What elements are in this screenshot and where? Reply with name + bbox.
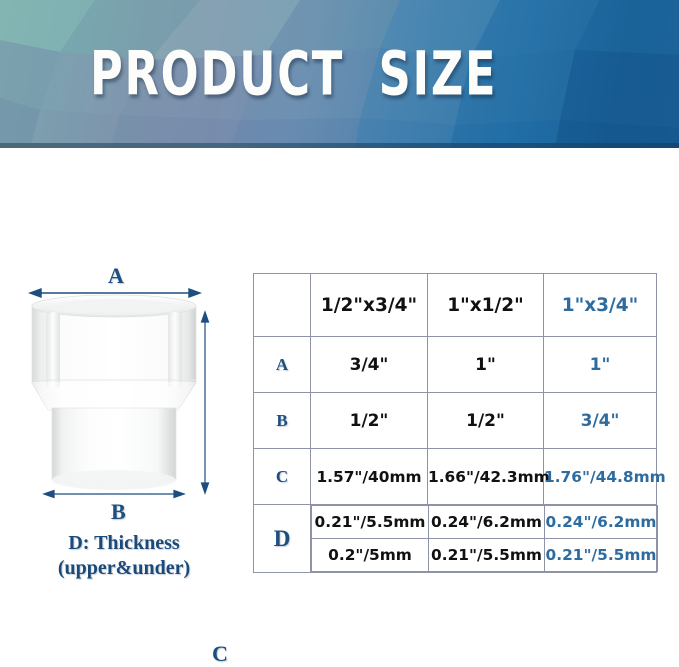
coupling-lower-rim bbox=[52, 470, 176, 490]
table-row-a: A 3/4" 1" 1" bbox=[254, 337, 657, 393]
row-a-value-2: 1" bbox=[428, 337, 544, 393]
row-label-b: B bbox=[254, 393, 311, 449]
product-diagram: A B C D: Thickness (upper&under) bbox=[0, 258, 248, 593]
table-header-size-1: 1/2"x3/4" bbox=[311, 274, 428, 337]
coupling-upper-bore bbox=[48, 299, 180, 315]
dimension-label-b: B bbox=[111, 499, 126, 525]
row-d-subtable: 0.21"/5.5mm 0.24"/6.2mm 0.24"/6.2mm 0.2"… bbox=[311, 505, 658, 572]
dimension-label-c: C bbox=[212, 641, 228, 667]
row-d-upper-value-3: 0.24"/6.2mm bbox=[545, 506, 658, 539]
row-d-upper-value-2: 0.24"/6.2mm bbox=[429, 506, 545, 539]
row-label-a: A bbox=[254, 337, 311, 393]
dimension-arrow-c bbox=[202, 312, 209, 493]
row-b-value-2: 1/2" bbox=[428, 393, 544, 449]
row-b-value-1: 1/2" bbox=[311, 393, 428, 449]
table-header-size-3: 1"x3/4" bbox=[544, 274, 657, 337]
table-row-b: B 1/2" 1/2" 3/4" bbox=[254, 393, 657, 449]
row-d-under-value-1: 0.2"/5mm bbox=[312, 539, 429, 572]
row-a-value-3: 1" bbox=[544, 337, 657, 393]
banner-bottom-rule bbox=[0, 143, 679, 148]
thickness-caption: D: Thickness (upper&under) bbox=[0, 531, 248, 581]
coupling-rib-left bbox=[46, 312, 60, 389]
row-d-under-value-3: 0.21"/5.5mm bbox=[545, 539, 658, 572]
pvc-reducer-coupling-illustration bbox=[0, 258, 248, 528]
thickness-caption-line2: (upper&under) bbox=[0, 556, 248, 581]
row-d-upper: 0.21"/5.5mm 0.24"/6.2mm 0.24"/6.2mm bbox=[312, 506, 658, 539]
dimension-arrow-b bbox=[44, 491, 184, 498]
page-title: PRODUCT SIZE bbox=[90, 40, 497, 110]
row-b-value-3: 3/4" bbox=[544, 393, 657, 449]
row-label-c: C bbox=[254, 449, 311, 505]
row-c-value-1: 1.57"/40mm bbox=[311, 449, 428, 505]
table-header-row: 1/2"x3/4" 1"x1/2" 1"x3/4" bbox=[254, 274, 657, 337]
row-d-under-value-2: 0.21"/5.5mm bbox=[429, 539, 545, 572]
row-label-d: D bbox=[254, 505, 311, 573]
row-d-values-container: 0.21"/5.5mm 0.24"/6.2mm 0.24"/6.2mm 0.2"… bbox=[311, 505, 657, 573]
row-c-value-2: 1.66"/42.3mm bbox=[428, 449, 544, 505]
page-banner: PRODUCT SIZE bbox=[0, 0, 679, 148]
coupling-rib-right bbox=[168, 312, 182, 389]
table-row-c: C 1.57"/40mm 1.66"/42.3mm 1.76"/44.8mm bbox=[254, 449, 657, 505]
row-d-upper-value-1: 0.21"/5.5mm bbox=[312, 506, 429, 539]
row-a-value-1: 3/4" bbox=[311, 337, 428, 393]
row-c-value-3: 1.76"/44.8mm bbox=[544, 449, 657, 505]
table-corner-cell bbox=[254, 274, 311, 337]
coupling-shoulder bbox=[32, 382, 196, 410]
dimension-label-a: A bbox=[108, 263, 124, 289]
table-header-size-2: 1"x1/2" bbox=[428, 274, 544, 337]
row-d-under: 0.2"/5mm 0.21"/5.5mm 0.21"/5.5mm bbox=[312, 539, 658, 572]
table-row-d: D 0.21"/5.5mm 0.24"/6.2mm 0.24"/6.2mm 0.… bbox=[254, 505, 657, 573]
thickness-caption-line1: D: Thickness bbox=[0, 531, 248, 556]
product-size-table: 1/2"x3/4" 1"x1/2" 1"x3/4" A 3/4" 1" 1" B… bbox=[253, 273, 657, 573]
